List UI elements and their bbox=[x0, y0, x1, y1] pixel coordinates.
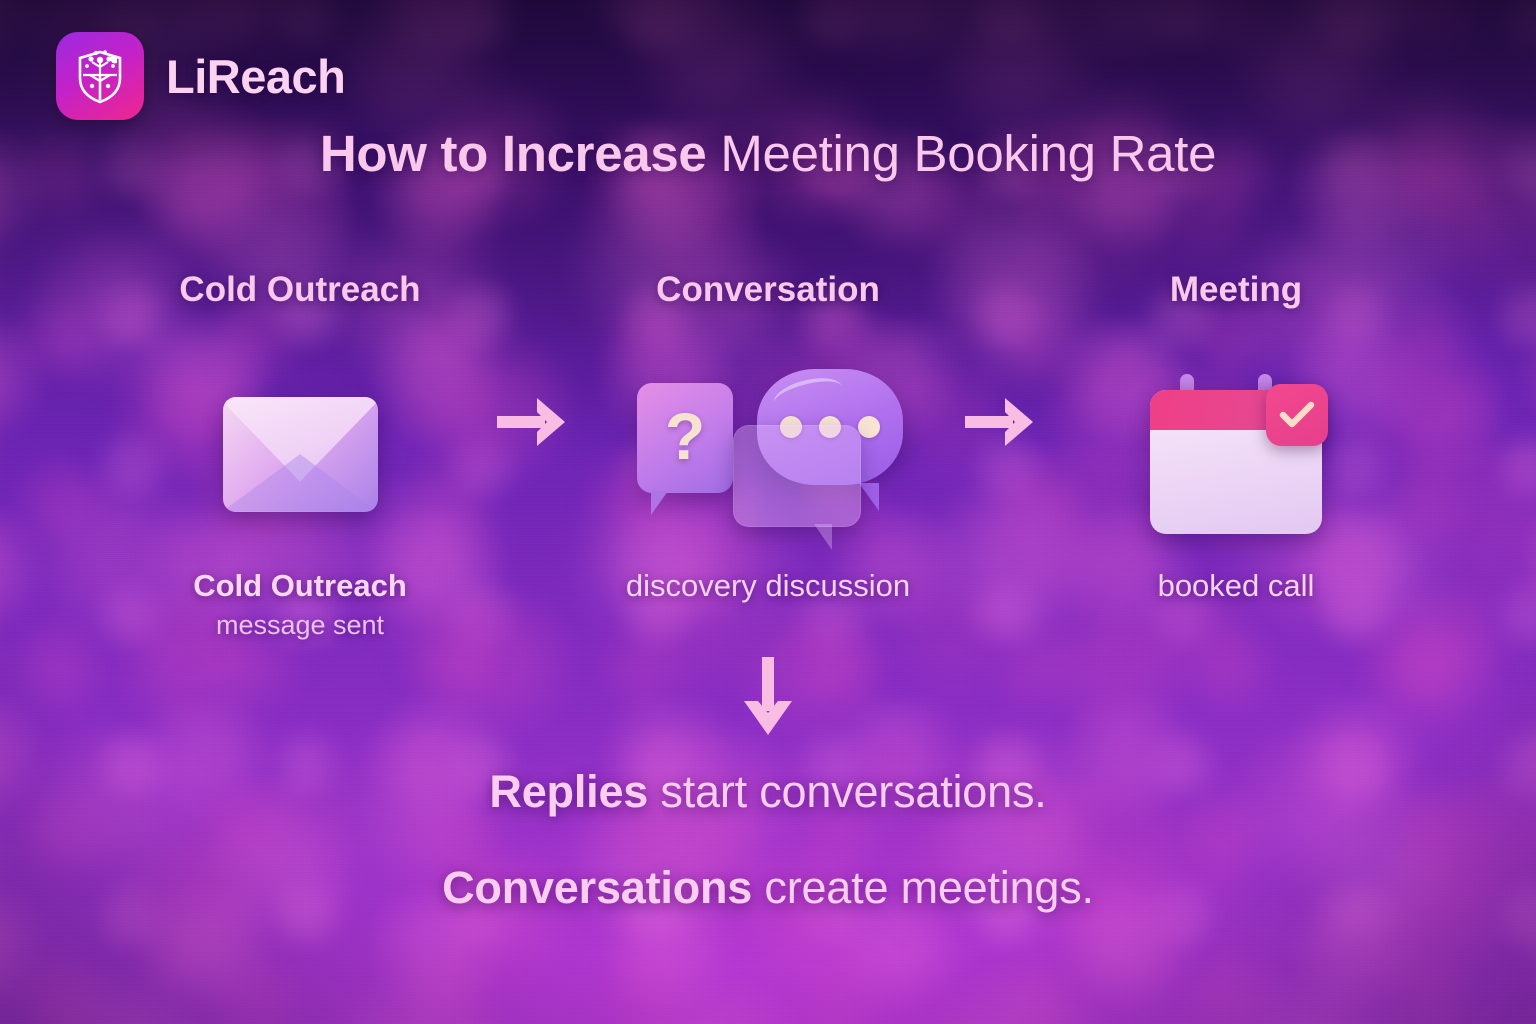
page-title-strong: How to Increase bbox=[320, 125, 707, 182]
closing-line-1-strong: Replies bbox=[489, 766, 648, 817]
step-caption: discovery discussion bbox=[626, 567, 910, 604]
step-caption: Cold Outreach bbox=[193, 567, 407, 604]
flow-arrow-2 bbox=[942, 272, 1062, 450]
step-subcaption: message sent bbox=[216, 610, 384, 641]
question-mark-glyph: ? bbox=[665, 403, 705, 469]
page-title-light: Meeting Booking Rate bbox=[706, 125, 1216, 182]
closing-line-2-light: create meetings. bbox=[752, 862, 1094, 913]
flow-step-cold-outreach: Cold Outreach Cold Outreach message sent bbox=[150, 272, 450, 641]
bubble-tail bbox=[814, 524, 832, 550]
step-artwork: ? bbox=[633, 359, 903, 549]
bubble-tail bbox=[859, 483, 879, 511]
funnel-flow: Cold Outreach Cold Outreach message sent… bbox=[150, 272, 1386, 641]
shield-circuit-logo-icon bbox=[56, 32, 144, 120]
bubble-tail bbox=[651, 491, 668, 515]
check-badge-icon bbox=[1266, 384, 1328, 446]
step-caption: booked call bbox=[1158, 567, 1315, 604]
closing-message: Replies start conversations. Conversatio… bbox=[0, 766, 1536, 914]
page-title: How to Increase Meeting Booking Rate bbox=[0, 124, 1536, 183]
step-title: Cold Outreach bbox=[179, 272, 420, 307]
flow-arrow-1 bbox=[474, 272, 594, 450]
flow-step-meeting: Meeting bbox=[1086, 272, 1386, 604]
step-title: Conversation bbox=[656, 272, 880, 307]
envelope-icon bbox=[223, 397, 378, 512]
arrow-right-icon bbox=[963, 394, 1041, 450]
calendar-check-icon bbox=[1150, 374, 1322, 534]
chat-bubble-foreground bbox=[733, 425, 861, 527]
infographic-canvas: LiReach How to Increase Meeting Booking … bbox=[0, 0, 1536, 1024]
flow-step-conversation: Conversation ? bbox=[618, 272, 918, 604]
flow-arrow-down bbox=[0, 655, 1536, 743]
chat-bubbles-icon: ? bbox=[633, 369, 903, 539]
typing-dot bbox=[858, 416, 880, 438]
arrow-down-icon bbox=[740, 655, 796, 743]
closing-line-2: Conversations create meetings. bbox=[0, 862, 1536, 914]
brand-lockup[interactable]: LiReach bbox=[56, 32, 345, 120]
closing-line-2-strong: Conversations bbox=[442, 862, 752, 913]
closing-line-1: Replies start conversations. bbox=[0, 766, 1536, 818]
step-artwork bbox=[223, 359, 378, 549]
closing-line-1-light: start conversations. bbox=[648, 766, 1046, 817]
step-title: Meeting bbox=[1170, 272, 1302, 307]
chat-bubble-question: ? bbox=[637, 383, 733, 493]
bubble-highlight bbox=[770, 372, 845, 418]
brand-name: LiReach bbox=[166, 49, 345, 104]
arrow-right-icon bbox=[495, 394, 573, 450]
step-artwork bbox=[1150, 359, 1322, 549]
